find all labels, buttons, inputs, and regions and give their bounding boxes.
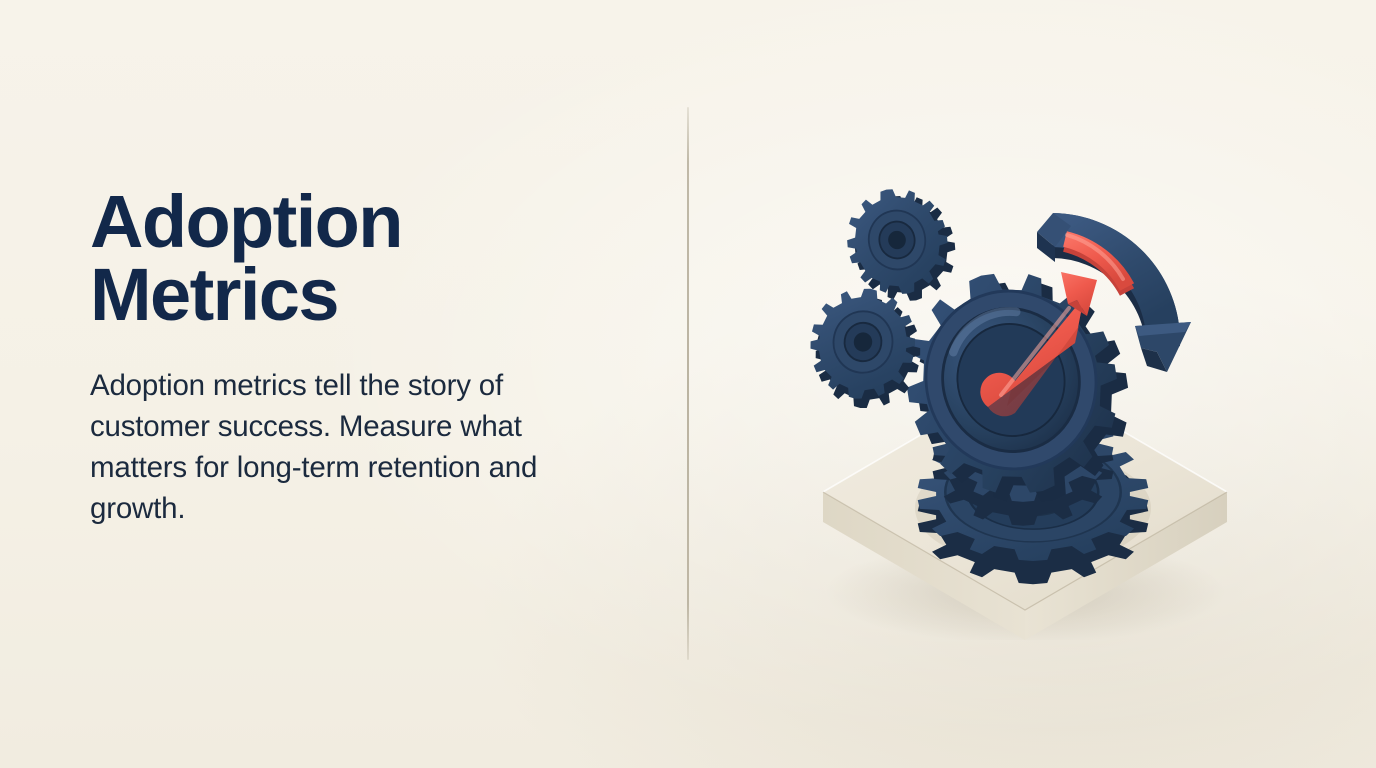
text-column: Adoption Metrics Adoption metrics tell t… xyxy=(90,186,610,529)
page-subtitle: Adoption metrics tell the story of custo… xyxy=(90,331,590,529)
slide-root: Adoption Metrics Adoption metrics tell t… xyxy=(0,0,1376,768)
illustration-svg xyxy=(775,140,1265,640)
page-title: Adoption Metrics xyxy=(90,186,610,331)
gears-gauge-illustration xyxy=(775,140,1265,640)
vertical-divider xyxy=(687,107,689,660)
gear-small-upper xyxy=(838,178,965,312)
